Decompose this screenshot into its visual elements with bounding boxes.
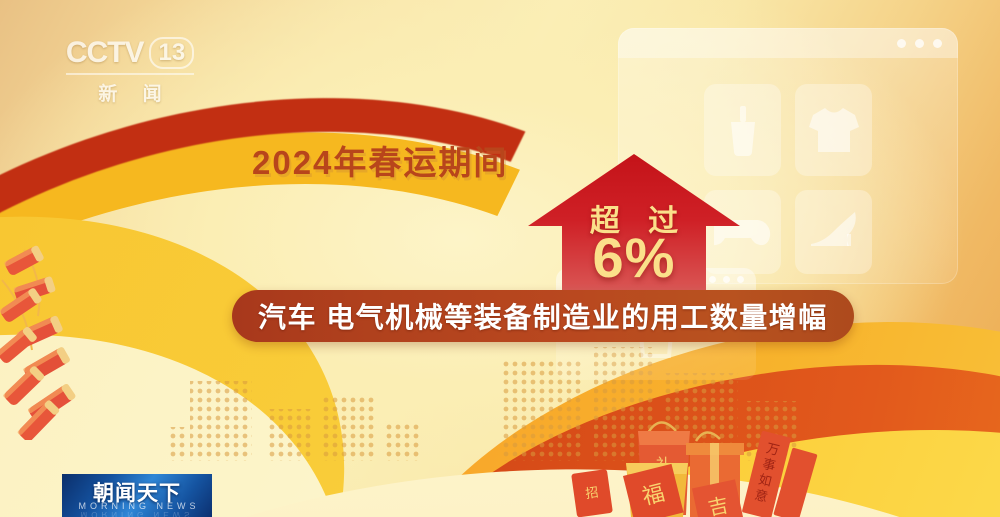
festive-goods-decoration: 礼 福 招 吉 万 事 <box>570 397 900 517</box>
window-dot-icon <box>933 39 942 48</box>
channel-name-cn: 新 闻 <box>62 79 198 106</box>
svg-text:招: 招 <box>585 485 600 502</box>
broadcast-frame: 礼 福 招 吉 万 事 <box>0 0 1000 517</box>
channel-logo-text: CCTV <box>66 36 144 70</box>
window-dot-icon <box>897 39 906 48</box>
statistic-banner-text: 汽车 电气机械等装备制造业的用工数量增幅 <box>258 296 828 336</box>
statistic-banner: 汽车 电气机械等装备制造业的用工数量增幅 <box>232 290 854 342</box>
firecrackers-decoration <box>0 240 124 440</box>
channel-logo-row: CCTV 13 <box>62 36 198 70</box>
channel-logo-divider <box>66 73 194 75</box>
red-envelope-small: 招 <box>571 469 613 517</box>
drink-cup-icon <box>723 104 763 156</box>
page-title: 2024年春运期间 <box>252 136 508 184</box>
channel-logo: CCTV 13 新 闻 <box>62 36 198 106</box>
t-shirt-icon <box>807 105 861 155</box>
browser-title-bar <box>618 28 958 58</box>
program-name-reflection: MORNING NEWS <box>62 510 212 517</box>
high-heel-shoe-icon <box>807 210 861 254</box>
window-dot-icon <box>915 39 924 48</box>
tile-t-shirt <box>795 84 872 176</box>
channel-number: 13 <box>149 37 194 69</box>
program-banner: 朝闻天下 MORNING NEWS MORNING NEWS <box>62 474 212 517</box>
tile-high-heel-shoe <box>795 190 872 274</box>
